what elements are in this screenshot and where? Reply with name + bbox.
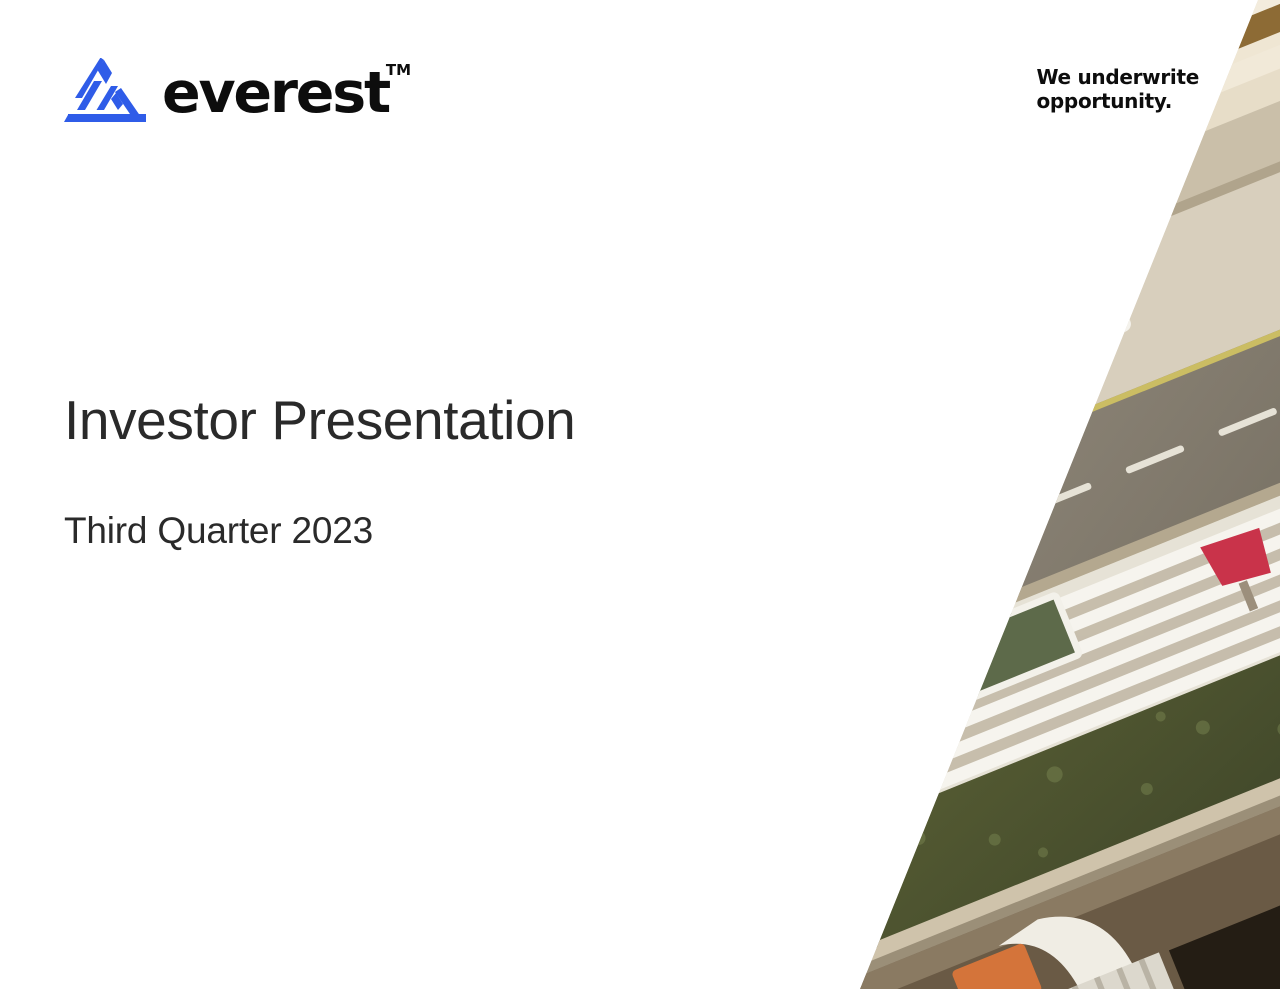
tagline-line-1: We underwrite <box>1036 66 1199 90</box>
page-subtitle: Third Quarter 2023 <box>64 512 575 551</box>
page-title: Investor Presentation <box>64 392 575 450</box>
brand-lockup: everestTM <box>64 58 389 124</box>
brand-wordmark-text: everest <box>162 60 389 126</box>
title-block: Investor Presentation Third Quarter 2023 <box>64 392 575 551</box>
everest-mountain-logo-icon <box>64 58 148 124</box>
hero-image <box>840 0 1280 989</box>
tagline-line-2: opportunity. <box>1036 90 1199 114</box>
hero-image-inner <box>840 0 1280 989</box>
brand-tagline: We underwrite opportunity. <box>1036 66 1199 113</box>
presentation-title-slide: everestTM We underwrite opportunity. Inv… <box>0 0 1280 989</box>
trademark-symbol: TM <box>386 63 411 78</box>
aerial-city-street-illustration <box>840 0 1280 989</box>
brand-wordmark: everestTM <box>162 65 389 122</box>
